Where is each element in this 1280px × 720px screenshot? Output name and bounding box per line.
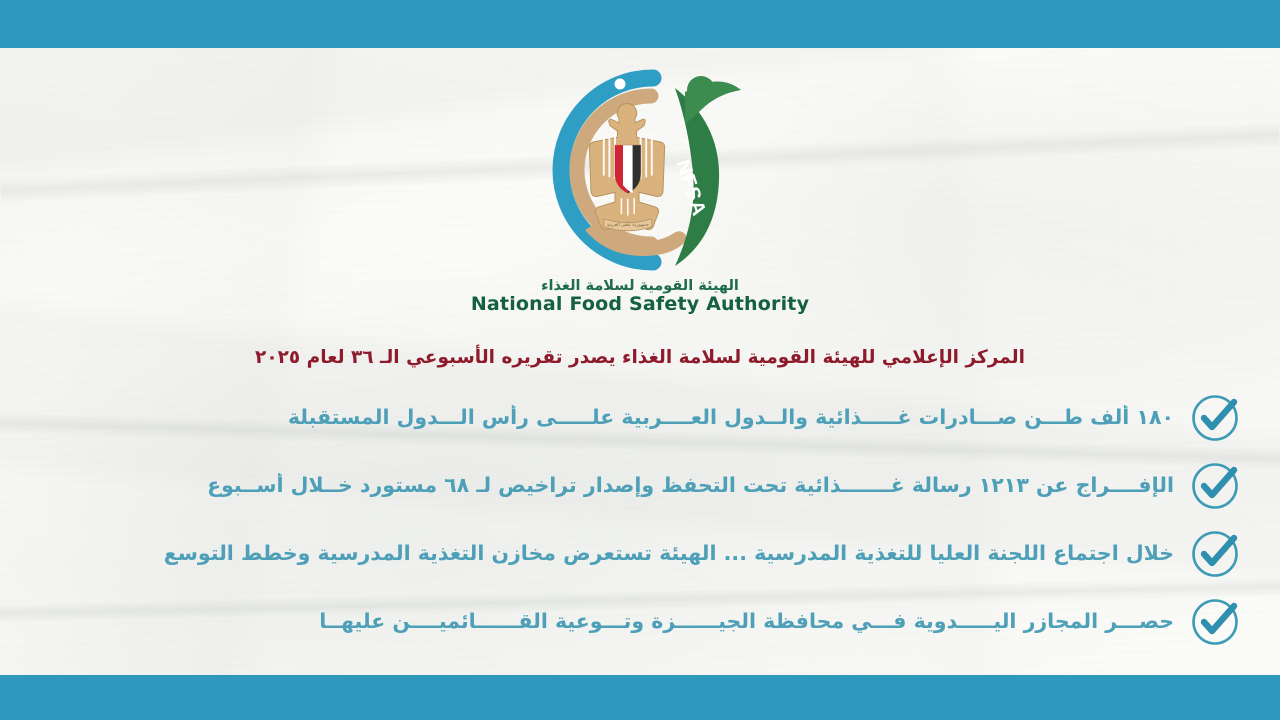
svg-text:جمهورية مصر العربية: جمهورية مصر العربية <box>607 222 649 228</box>
bullet-list: ١٨٠ ألف طـــن صـــادرات غـــــذائية والـ… <box>38 383 1242 655</box>
bullet-item: الإفــــراج عن ١٢١٣ رسالة غـــــــذائية … <box>38 451 1242 519</box>
green-head-dot <box>687 76 715 104</box>
logo-name-arabic: الهيئة القومية لسلامة الغذاء <box>471 279 809 294</box>
bullet-item: حصـــر المجازر اليـــــدوية فـــي محافظة… <box>38 587 1242 655</box>
bullet-text: الإفــــراج عن ١٢١٣ رسالة غـــــــذائية … <box>38 473 1174 497</box>
organization-logo: NFSA <box>0 62 1280 342</box>
bullet-item: ١٨٠ ألف طـــن صـــادرات غـــــذائية والـ… <box>38 383 1242 451</box>
bullet-text: خلال اجتماع اللجنة العليا للتغذية المدرس… <box>38 541 1174 565</box>
top-accent-bar <box>0 0 1280 48</box>
check-circle-icon <box>1188 594 1242 648</box>
bullet-item: خلال اجتماع اللجنة العليا للتغذية المدرس… <box>38 519 1242 587</box>
arc-highlight-dot <box>615 79 626 90</box>
bullet-text: حصـــر المجازر اليـــــدوية فـــي محافظة… <box>38 609 1174 633</box>
logo-wordmark: الهيئة القومية لسلامة الغذاء National Fo… <box>471 279 809 315</box>
check-circle-icon <box>1188 526 1242 580</box>
logo-name-english: National Food Safety Authority <box>471 295 809 315</box>
slide-root: NFSA <box>0 0 1280 720</box>
check-circle-icon <box>1188 458 1242 512</box>
bullet-text: ١٨٠ ألف طـــن صـــادرات غـــــذائية والـ… <box>38 405 1174 429</box>
bottom-accent-bar <box>0 675 1280 720</box>
nfsa-logo-mark: NFSA <box>525 62 755 277</box>
check-circle-icon <box>1188 390 1242 444</box>
headline-title: المركز الإعلامي للهيئة القومية لسلامة ال… <box>0 347 1280 368</box>
